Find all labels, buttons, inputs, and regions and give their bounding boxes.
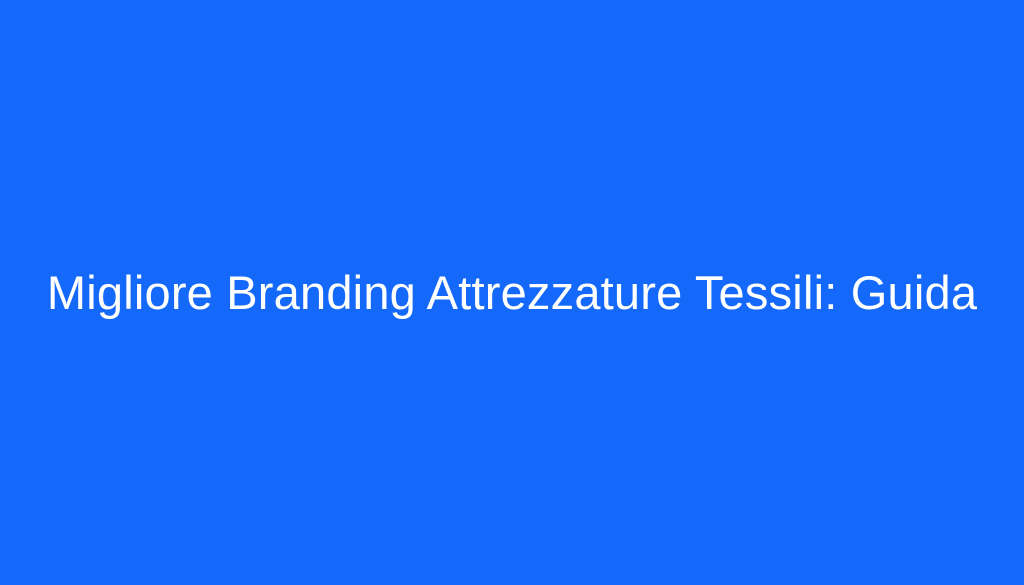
title-card: Migliore Branding Attrezzature Tessili: … [0,0,1024,585]
page-title: Migliore Branding Attrezzature Tessili: … [47,264,977,321]
title-card-content: Migliore Branding Attrezzature Tessili: … [0,264,1024,321]
